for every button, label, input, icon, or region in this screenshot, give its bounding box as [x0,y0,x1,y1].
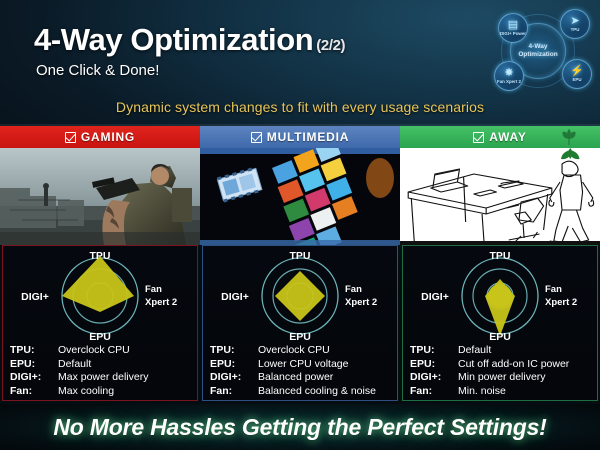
multimedia-collage [200,148,400,245]
multimedia-panel: TPU EPU DIGI+ Fan Xpert 2 TPU: Overclock… [202,245,398,401]
radar-chart-multimedia: TPU EPU DIGI+ Fan Xpert 2 [205,248,395,343]
setting-value: Overclock CPU [58,344,193,358]
digi-power-label: DIGI+ Power [500,32,526,36]
setting-value: Default [458,344,593,358]
setting-key: Fan: [210,385,258,399]
setting-row: TPU: Overclock CPU [210,344,393,358]
setting-key: TPU: [210,344,258,358]
fan-xpert-glyph: ✸ [504,68,513,79]
mode-header-multimedia[interactable]: MULTIMEDIA [200,126,400,148]
tpu-icon: ➤ TPU [560,9,590,39]
gaming-settings-list: TPU: Overclock CPU EPU: Default DIGI+: M… [10,344,193,398]
setting-key: DIGI+: [10,371,58,385]
logo-center-label: 4-Way Optimization [512,43,564,59]
setting-value: Balanced power [258,371,393,385]
setting-value: Overclock CPU [258,344,393,358]
tpu-glyph: ➤ [570,16,579,27]
slide-header: 4-Way Optimization(2/2) One Click & Done… [0,0,600,126]
header-divider [0,124,600,126]
setting-row: DIGI+: Balanced power [210,371,393,385]
radar-label-epu: EPU [489,331,511,343]
radar-chart-away: TPU EPU DIGI+ Fan Xpert 2 [405,248,595,343]
mode-header-row: GAMING MULTIMEDIA AWAY [0,126,600,148]
tpu-label: TPU [571,28,580,32]
setting-key: TPU: [410,344,458,358]
radar-label-epu: EPU [289,331,311,343]
mode-header-away[interactable]: AWAY [400,126,600,148]
radar-label-fan-2: Xpert 2 [345,297,377,308]
epu-glyph: ⚡ [570,66,584,77]
setting-key: DIGI+: [410,371,458,385]
gaming-panel: TPU EPU DIGI+ Fan Xpert 2 TPU: Overclock… [2,245,198,401]
setting-row: DIGI+: Min power delivery [410,371,593,385]
slide-root: 4-Way Optimization(2/2) One Click & Done… [0,0,600,450]
digi-power-glyph: ▤ [508,20,518,31]
empty-desk-line-drawing [400,148,600,245]
setting-row: Fan: Max cooling [10,385,193,399]
page-subtitle: One Click & Done! [36,62,159,79]
fan-xpert-label: Fan Xpert 2 [497,80,521,84]
radar-label-fan-2: Xpert 2 [545,297,577,308]
multimedia-settings-list: TPU: Overclock CPU EPU: Lower CPU voltag… [210,344,393,398]
page-counter: (2/2) [316,37,345,54]
mode-header-gaming[interactable]: GAMING [0,126,200,148]
radar-label-epu: EPU [89,331,111,343]
footer-banner: No More Hassles Getting the Perfect Sett… [0,404,600,450]
column-multimedia: TPU EPU DIGI+ Fan Xpert 2 TPU: Overclock… [200,148,400,403]
mode-header-multimedia-label: MULTIMEDIA [267,130,349,144]
header-tagline: Dynamic system changes to fit with every… [0,99,600,115]
logo-center-line1: 4-Way [512,43,564,51]
radar-label-digi: DIGI+ [421,291,449,303]
radar-label-digi: DIGI+ [221,291,249,303]
setting-value: Max cooling [58,385,193,399]
radar-chart-gaming: TPU EPU DIGI+ Fan Xpert 2 [5,248,195,343]
setting-row: TPU: Overclock CPU [10,344,193,358]
setting-key: EPU: [210,358,258,372]
mode-header-gaming-label: GAMING [81,130,135,144]
page-title-text: 4-Way Optimization [34,22,313,57]
setting-value: Min. noise [458,385,593,399]
setting-value: Balanced cooling & noise [258,385,393,399]
setting-key: EPU: [410,358,458,372]
setting-row: DIGI+: Max power delivery [10,371,193,385]
fan-xpert-icon: ✸ Fan Xpert 2 [494,61,524,91]
checkbox-checked-icon [251,132,262,143]
leaf-icon [560,128,578,146]
radar-label-fan-1: Fan [345,284,362,295]
setting-row: Fan: Min. noise [410,385,593,399]
setting-value: Lower CPU voltage [258,358,393,372]
setting-value: Max power delivery [58,371,193,385]
radar-label-fan-1: Fan [145,284,162,295]
mode-header-away-label: AWAY [489,130,526,144]
page-title: 4-Way Optimization(2/2) [34,22,345,58]
epu-icon: ⚡ EPU [562,59,592,89]
radar-label-fan-2: Xpert 2 [145,297,177,308]
checkbox-checked-icon [473,132,484,143]
column-gaming: TPU EPU DIGI+ Fan Xpert 2 TPU: Overclock… [0,148,200,403]
setting-row: EPU: Cut off add-on IC power [410,358,593,372]
radar-label-tpu: TPU [290,250,311,262]
setting-value: Default [58,358,193,372]
setting-value: Cut off add-on IC power [458,358,593,372]
four-way-optimization-logo: ▤ DIGI+ Power ➤ TPU ✸ Fan Xpert 2 ⚡ EPU … [482,9,594,93]
column-away: TPU EPU DIGI+ Fan Xpert 2 TPU: Default E… [400,148,600,403]
setting-key: EPU: [10,358,58,372]
radar-label-digi: DIGI+ [21,291,49,303]
checkbox-checked-icon [65,132,76,143]
radar-label-tpu: TPU [90,250,111,262]
away-panel: TPU EPU DIGI+ Fan Xpert 2 TPU: Default E… [402,245,598,401]
setting-key: Fan: [10,385,58,399]
setting-row: Fan: Balanced cooling & noise [210,385,393,399]
setting-row: EPU: Default [10,358,193,372]
away-settings-list: TPU: Default EPU: Cut off add-on IC powe… [410,344,593,398]
setting-key: TPU: [10,344,58,358]
logo-center-line2: Optimization [512,51,564,59]
mode-columns: TPU EPU DIGI+ Fan Xpert 2 TPU: Overclock… [0,148,600,403]
epu-label: EPU [572,78,581,82]
radar-label-tpu: TPU [490,250,511,262]
setting-row: EPU: Lower CPU voltage [210,358,393,372]
gaming-screenshot [0,148,200,245]
setting-value: Min power delivery [458,371,593,385]
setting-key: Fan: [410,385,458,399]
setting-row: TPU: Default [410,344,593,358]
radar-label-fan-1: Fan [545,284,562,295]
setting-key: DIGI+: [210,371,258,385]
digi-power-icon: ▤ DIGI+ Power [498,13,528,43]
footer-tagline: No More Hassles Getting the Perfect Sett… [53,414,546,441]
